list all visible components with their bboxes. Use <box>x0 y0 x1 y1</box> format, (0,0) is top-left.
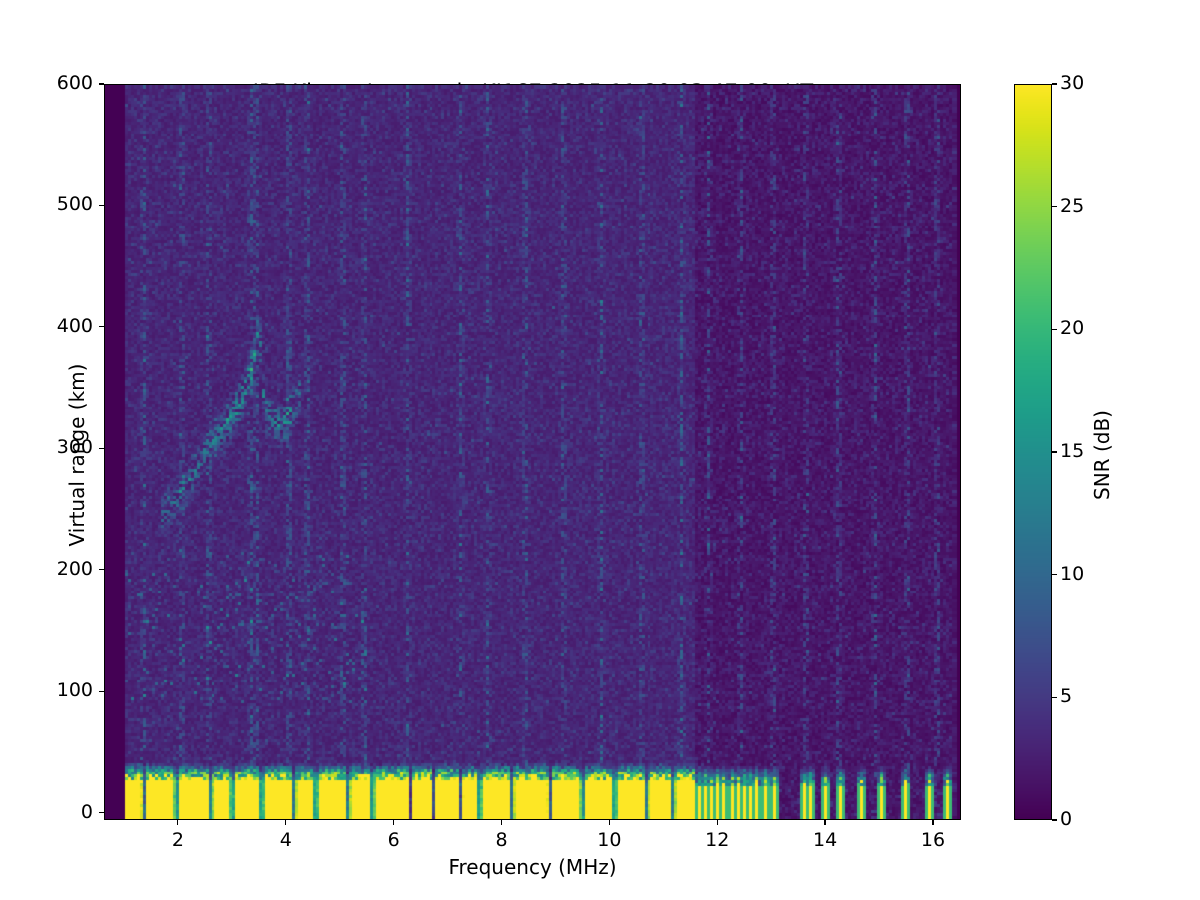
ionogram-heatmap-canvas <box>105 85 960 819</box>
x-axis-label: Frequency (MHz) <box>104 855 961 879</box>
x-tick-label: 8 <box>471 829 531 851</box>
colorbar-tick-label: 0 <box>1060 810 1072 829</box>
x-tick-label: 6 <box>364 829 424 851</box>
x-tick-label: 16 <box>903 829 963 851</box>
x-tick-mark <box>501 820 502 825</box>
x-tick-label: 14 <box>795 829 855 851</box>
ionogram-plot-area[interactable] <box>104 84 961 820</box>
x-tick-mark <box>393 820 394 825</box>
x-tick-mark <box>824 820 825 825</box>
x-tick-mark <box>177 820 178 825</box>
y-tick-mark <box>99 83 104 84</box>
x-tick-mark <box>285 820 286 825</box>
colorbar-tick-mark <box>1052 574 1057 575</box>
x-tick-label: 4 <box>256 829 316 851</box>
y-axis-label: Virtual range (km) <box>65 25 89 885</box>
colorbar-tick-label: 20 <box>1060 319 1084 338</box>
x-tick-label: 10 <box>579 829 639 851</box>
colorbar-tick-mark <box>1052 819 1057 820</box>
colorbar-tick-mark <box>1052 451 1057 452</box>
colorbar-tick-label: 15 <box>1060 442 1084 461</box>
ionogram-figure: IRF Kiruna Ionosonde KI167 2025-11-20 03… <box>0 0 1200 900</box>
colorbar-tick-label: 25 <box>1060 197 1084 216</box>
colorbar-gradient-canvas <box>1015 85 1051 819</box>
colorbar-label: SNR (dB) <box>1090 155 1114 755</box>
colorbar-tick-mark <box>1052 206 1057 207</box>
x-tick-label: 12 <box>687 829 747 851</box>
x-tick-mark <box>932 820 933 825</box>
y-tick-mark <box>99 448 104 449</box>
colorbar-tick-label: 30 <box>1060 74 1084 93</box>
colorbar-tick-label: 10 <box>1060 565 1084 584</box>
y-tick-mark <box>99 569 104 570</box>
y-tick-mark <box>99 326 104 327</box>
x-tick-label: 2 <box>148 829 208 851</box>
colorbar-tick-mark <box>1052 329 1057 330</box>
colorbar <box>1014 84 1052 820</box>
colorbar-tick-mark <box>1052 697 1057 698</box>
x-tick-mark <box>609 820 610 825</box>
y-tick-mark <box>99 691 104 692</box>
x-tick-mark <box>717 820 718 825</box>
y-tick-mark <box>99 812 104 813</box>
colorbar-tick-label: 5 <box>1060 687 1072 706</box>
y-tick-mark <box>99 205 104 206</box>
colorbar-tick-mark <box>1052 83 1057 84</box>
